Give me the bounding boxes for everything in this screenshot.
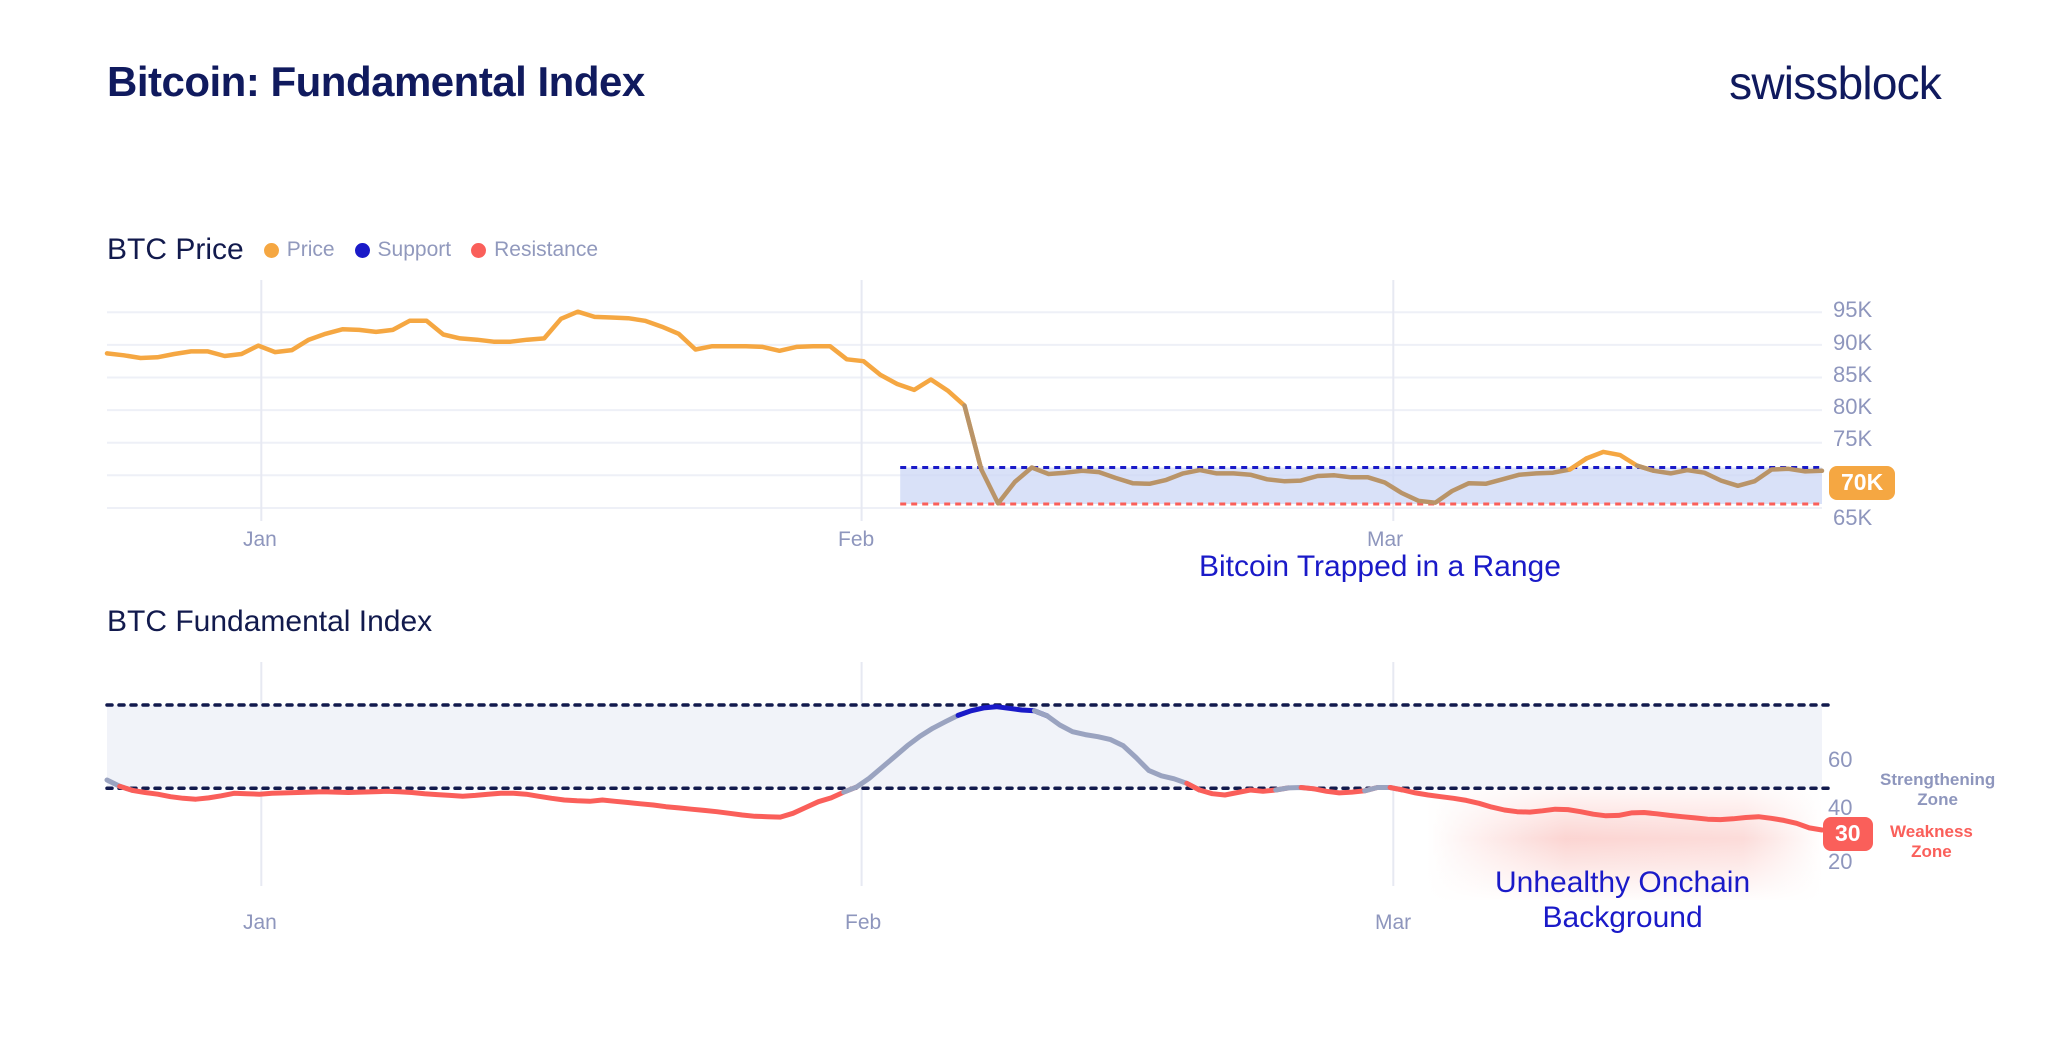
index-xtick-feb: Feb: [845, 911, 881, 935]
price-ytick-80k: 80K: [1833, 394, 1872, 420]
legend-item-resistance[interactable]: Resistance: [471, 238, 598, 262]
price-ytick-95k: 95K: [1833, 297, 1872, 323]
index-section-header: BTC Fundamental Index: [107, 605, 432, 639]
page-title: Bitcoin: Fundamental Index: [107, 58, 645, 106]
legend-label-price: Price: [287, 238, 335, 262]
price-legend: Price Support Resistance: [264, 238, 598, 262]
legend-item-support[interactable]: Support: [355, 238, 452, 262]
price-xtick-jan: Jan: [243, 528, 277, 552]
price-chart-title: BTC Price: [107, 233, 244, 267]
index-ytick-20: 20: [1828, 849, 1852, 875]
dot-icon: [355, 243, 370, 258]
weakness-zone-line1: Weakness: [1890, 822, 1973, 842]
price-chart-canvas: [107, 296, 1822, 521]
index-chart-title: BTC Fundamental Index: [107, 605, 432, 639]
index-ytick-60: 60: [1828, 747, 1852, 773]
annotation-onchain-line2: Background: [1495, 900, 1750, 935]
strengthening-zone-line2: Zone: [1880, 790, 1995, 810]
annotation-bitcoin-trapped: Bitcoin Trapped in a Range: [1199, 549, 1561, 584]
price-line: [107, 312, 981, 470]
dot-icon: [471, 243, 486, 258]
price-section-header: BTC Price Price Support Resistance: [107, 233, 598, 267]
annotation-unhealthy-onchain: Unhealthy Onchain Background: [1495, 865, 1750, 936]
chart-page: Bitcoin: Fundamental Index swissblock BT…: [0, 0, 2048, 1044]
swissblock-logo: swissblock: [1729, 56, 1941, 110]
annotation-onchain-line1: Unhealthy Onchain: [1495, 865, 1750, 900]
index-chart-canvas: [107, 680, 1822, 880]
index-current-value-badge: 30: [1823, 817, 1873, 851]
strengthening-zone-label: Strengthening Zone: [1880, 770, 1995, 809]
dot-icon: [264, 243, 279, 258]
index-line: [120, 786, 857, 817]
index-xtick-mar: Mar: [1375, 911, 1411, 935]
legend-label-resistance: Resistance: [494, 238, 598, 262]
index-xtick-jan: Jan: [243, 911, 277, 935]
price-current-value-badge: 70K: [1829, 466, 1895, 500]
legend-label-support: Support: [378, 238, 452, 262]
weakness-zone-line2: Zone: [1890, 842, 1973, 862]
price-ytick-75k: 75K: [1833, 426, 1872, 452]
strengthening-band: [107, 705, 1822, 788]
price-xtick-feb: Feb: [838, 528, 874, 552]
btc-price-chart: [107, 296, 1822, 521]
weakness-zone-label: Weakness Zone: [1890, 822, 1973, 861]
strengthening-zone-line1: Strengthening: [1880, 770, 1995, 790]
btc-fundamental-index-chart: [107, 680, 1822, 880]
price-ytick-90k: 90K: [1833, 330, 1872, 356]
price-ytick-85k: 85K: [1833, 362, 1872, 388]
price-ytick-65k: 65K: [1833, 505, 1872, 531]
legend-item-price[interactable]: Price: [264, 238, 335, 262]
